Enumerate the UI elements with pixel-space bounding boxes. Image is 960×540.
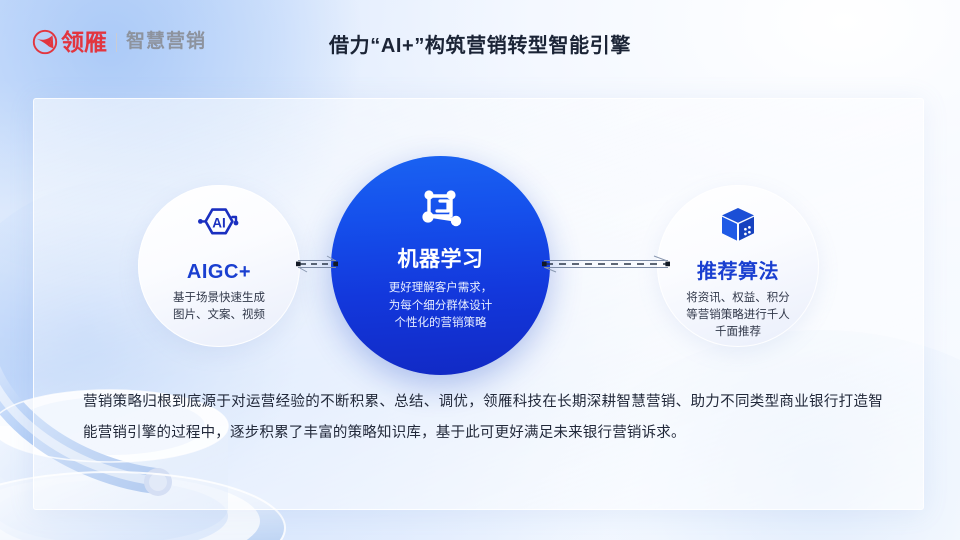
concept-node-machine-learning[interactable]: 机器学习 更好理解客户需求， 为每个细分群体设计 个性化的营销策略 [331, 156, 550, 375]
concept-node-description: 基于场景快速生成 图片、文案、视频 [173, 290, 265, 324]
concept-node-title: AIGC+ [187, 260, 251, 284]
concept-diagram: AI AIGC+ 基于场景快速生成 图片、文案、视频 [34, 99, 923, 374]
concept-node-description-line: 千面推荐 [686, 324, 790, 341]
slide-canvas: 领雁 智慧营销 借力“AI+”构筑营销转型智能引擎 AI [0, 0, 960, 540]
concept-node-description-line: 为每个细分群体设计 [389, 298, 493, 316]
concept-node-recommendation[interactable]: 推荐算法 将资讯、权益、积分 等营销策略进行千人 千面推荐 [657, 185, 819, 347]
svg-text:AI: AI [212, 216, 226, 231]
ai-hexagon-icon: AI [197, 205, 241, 250]
concept-node-title: 推荐算法 [697, 260, 779, 284]
content-card: AI AIGC+ 基于场景快速生成 图片、文案、视频 [33, 98, 924, 510]
cube-3d-icon [717, 205, 759, 250]
slide-header: 领雁 智慧营销 借力“AI+”构筑营销转型智能引擎 [0, 0, 960, 80]
concept-node-description-line: 基于场景快速生成 [173, 290, 265, 307]
summary-paragraph: 营销策略归根到底源于对运营经验的不断积累、总结、调优，领雁科技在长期深耕智慧营销… [83, 387, 883, 449]
connector-aigc-to-machine-learning [296, 254, 338, 279]
concept-node-description-line: 图片、文案、视频 [173, 307, 265, 324]
concept-node-title: 机器学习 [398, 248, 484, 272]
concept-node-description-line: 个性化的营销策略 [389, 315, 493, 333]
concept-node-description-line: 等营销策略进行千人 [686, 307, 790, 324]
network-graph-icon [417, 186, 465, 237]
concept-node-description-line: 更好理解客户需求， [389, 280, 493, 298]
connector-machine-learning-to-recommendation [542, 254, 670, 279]
concept-node-description: 将资讯、权益、积分 等营销策略进行千人 千面推荐 [686, 290, 790, 341]
concept-node-description-line: 将资讯、权益、积分 [686, 290, 790, 307]
page-title: 借力“AI+”构筑营销转型智能引擎 [0, 29, 960, 58]
concept-node-description: 更好理解客户需求， 为每个细分群体设计 个性化的营销策略 [389, 280, 493, 333]
concept-node-aigc[interactable]: AI AIGC+ 基于场景快速生成 图片、文案、视频 [138, 185, 300, 347]
